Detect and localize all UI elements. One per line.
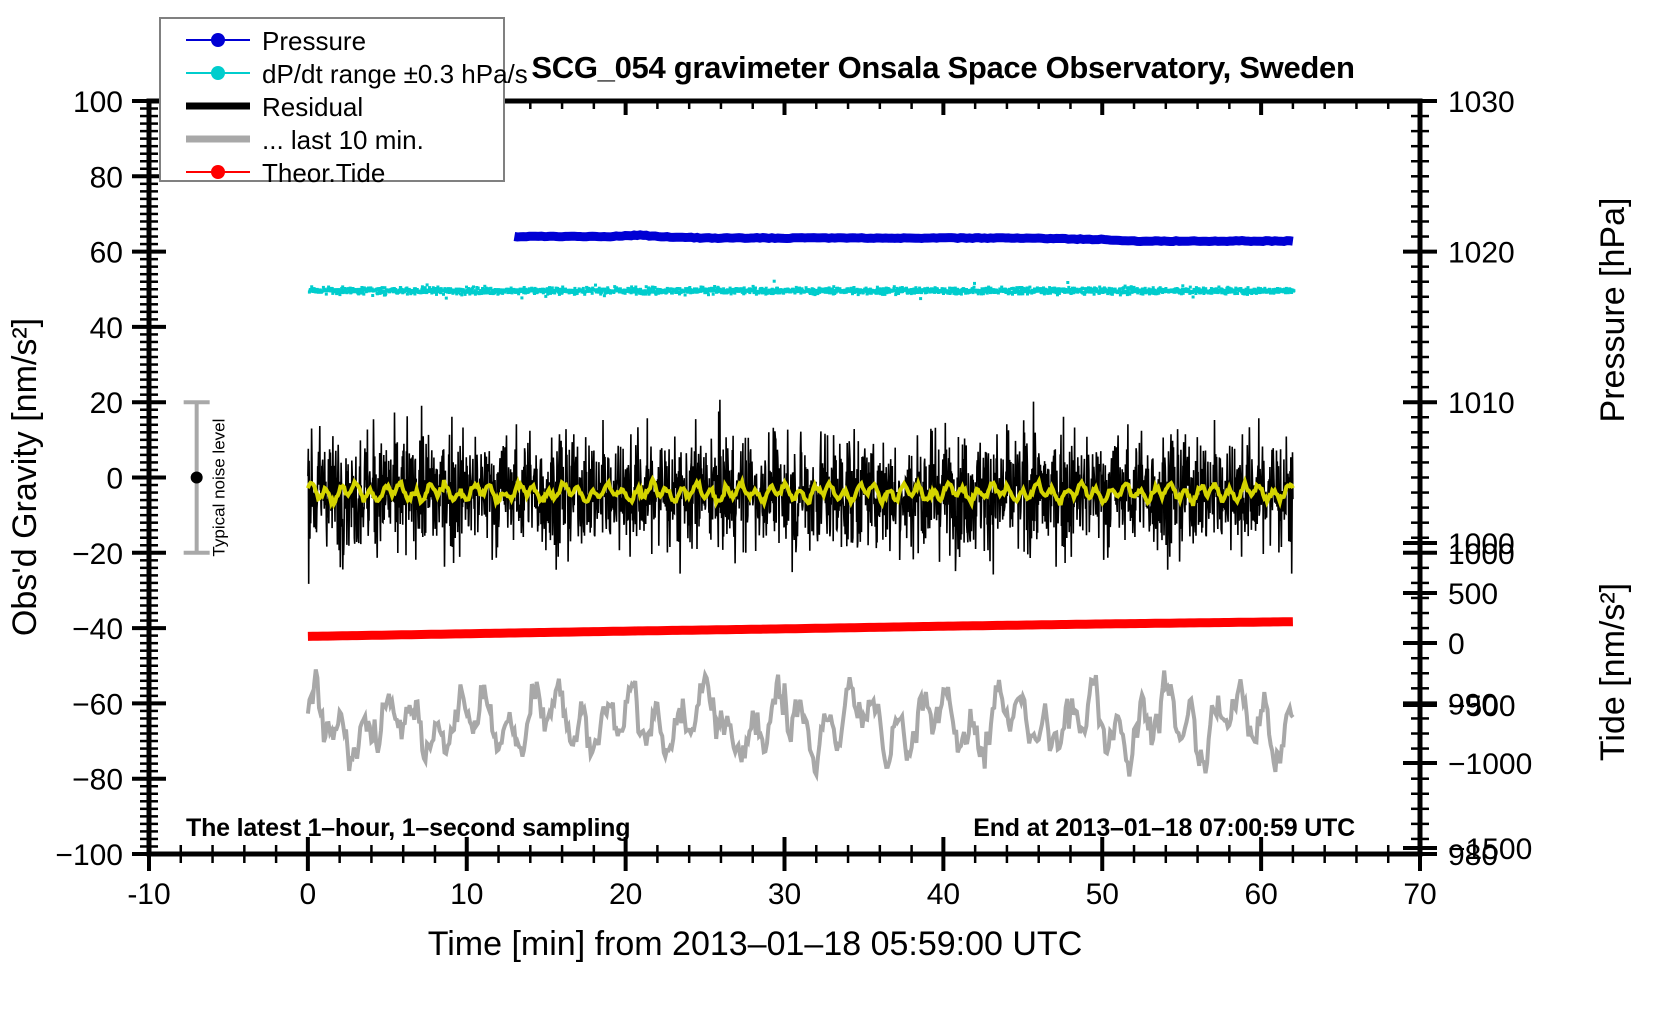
legend-marker-dot: [211, 33, 225, 47]
pressure-tick-label: 1020: [1448, 237, 1515, 270]
legend[interactable]: PressuredP/dt range ±0.3 hPa/sResidual..…: [160, 18, 528, 188]
legend-label: ... last 10 min.: [262, 125, 424, 155]
y-axis-title-right-pressure: Pressure [hPa]: [1594, 198, 1632, 423]
pressure-tick-label: 1010: [1448, 387, 1515, 420]
y-tick-label: 80: [90, 161, 123, 194]
typical-noise-level-label: Typical noise level: [210, 419, 229, 557]
chart-page: Typical noise level 100806040200−20−40−6…: [0, 0, 1660, 1020]
x-tick-label: 30: [768, 878, 801, 911]
y-tick-label: 0: [106, 463, 123, 496]
x-tick-label: 40: [927, 878, 960, 911]
legend-label: Theor.Tide: [262, 158, 385, 188]
tide-tick-label: 0: [1448, 628, 1465, 661]
x-tick-label: 0: [300, 878, 317, 911]
page-title: SCG_054 gravimeter Onsala Space Observat…: [531, 50, 1354, 85]
legend-label: Pressure: [262, 26, 366, 56]
y-tick-label: 40: [90, 312, 123, 345]
pressure-tick-label: 1030: [1448, 86, 1515, 119]
y-tick-label: 20: [90, 387, 123, 420]
legend-label: dP/dt range ±0.3 hPa/s: [262, 59, 528, 89]
tide-tick-label: −1000: [1448, 748, 1532, 781]
y-tick-label: 100: [73, 86, 123, 119]
sampling-note: The latest 1–hour, 1–second sampling: [186, 814, 630, 842]
gravimeter-chart: Typical noise level 100806040200−20−40−6…: [0, 0, 1660, 1020]
tide-tick-label: −500: [1448, 690, 1516, 723]
x-tick-label: -10: [127, 878, 170, 911]
tide-tick-label: 1000: [1448, 528, 1515, 561]
y-tick-label: −20: [72, 538, 123, 571]
y-tick-label: −60: [72, 688, 123, 721]
y-tick-label: −40: [72, 613, 123, 646]
y-tick-label: 60: [90, 237, 123, 270]
legend-marker-dot: [211, 66, 225, 80]
y-tick-label: −80: [72, 764, 123, 797]
x-tick-label: 70: [1403, 878, 1436, 911]
end-time-note: End at 2013–01–18 07:00:59 UTC: [973, 814, 1355, 842]
x-axis-title: Time [min] from 2013–01–18 05:59:00 UTC: [428, 925, 1083, 963]
x-tick-label: 10: [450, 878, 483, 911]
x-tick-label: 20: [609, 878, 642, 911]
y-axis-title-right-tide: Tide [nm/s²]: [1594, 583, 1632, 761]
y-axis-title-left: Obs'd Gravity [nm/s²]: [6, 318, 44, 636]
y-tick-label: −100: [55, 839, 123, 872]
legend-label: Residual: [262, 92, 363, 122]
tide-tick-label: −1500: [1448, 833, 1532, 866]
tide-tick-label: 500: [1448, 578, 1498, 611]
legend-marker-dot: [211, 165, 225, 179]
x-tick-label: 60: [1244, 878, 1277, 911]
x-tick-label: 50: [1086, 878, 1119, 911]
